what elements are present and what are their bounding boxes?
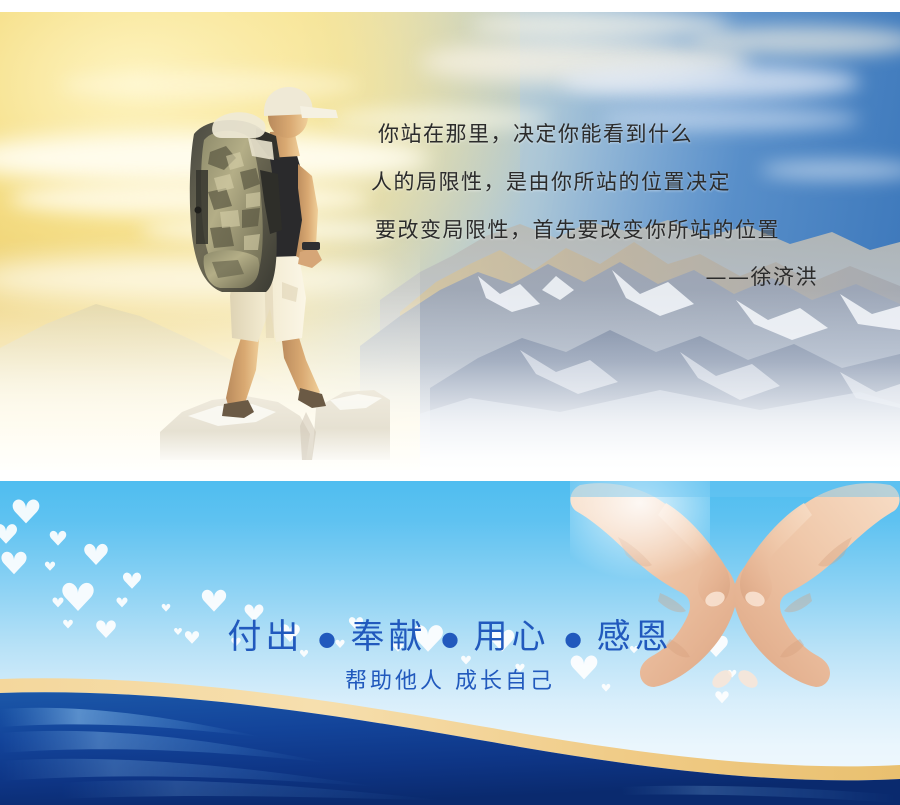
headline-part-2: 奉献 [350, 617, 426, 657]
quote-line-2: 人的局限性，是由你所站的位置决定 [370, 158, 880, 206]
headline-part-3: 用心 [474, 617, 550, 657]
banner-subline: 帮助他人 成长自己 [0, 663, 900, 695]
banner-text-block: 付出 ● 奉献 ● 用心 ● 感恩 帮助他人 成长自己 [0, 481, 900, 805]
values-banner-section: 付出 ● 奉献 ● 用心 ● 感恩 帮助他人 成长自己 [0, 481, 900, 805]
quote-line-1: 你站在那里，决定你能看到什么 [370, 110, 880, 158]
section-divider [0, 470, 900, 481]
hiker-figure [160, 60, 390, 460]
poster-page: 你站在那里，决定你能看到什么 人的局限性，是由你所站的位置决定 要改变局限性，首… [0, 0, 900, 805]
quote-line-3: 要改变局限性，首先要改变你所站的位置 [370, 206, 880, 254]
hero-photo-section: 你站在那里，决定你能看到什么 人的局限性，是由你所站的位置决定 要改变局限性，首… [0, 12, 900, 470]
backpack [190, 112, 282, 292]
banner-headline: 付出 ● 奉献 ● 用心 ● 感恩 [0, 609, 900, 658]
headline-part-1: 付出 [227, 617, 303, 657]
quote-attribution: ——徐济洪 [370, 254, 880, 300]
rock-outcrop [160, 390, 390, 460]
headline-part-4: 感恩 [597, 617, 673, 657]
bullet-separator-icon: ● [564, 627, 581, 651]
bullet-separator-icon: ● [318, 627, 335, 651]
cap-brim [300, 106, 338, 118]
wristwatch [302, 242, 320, 250]
bullet-separator-icon: ● [441, 627, 458, 651]
quote-block: 你站在那里，决定你能看到什么 人的局限性，是由你所站的位置决定 要改变局限性，首… [370, 110, 880, 300]
